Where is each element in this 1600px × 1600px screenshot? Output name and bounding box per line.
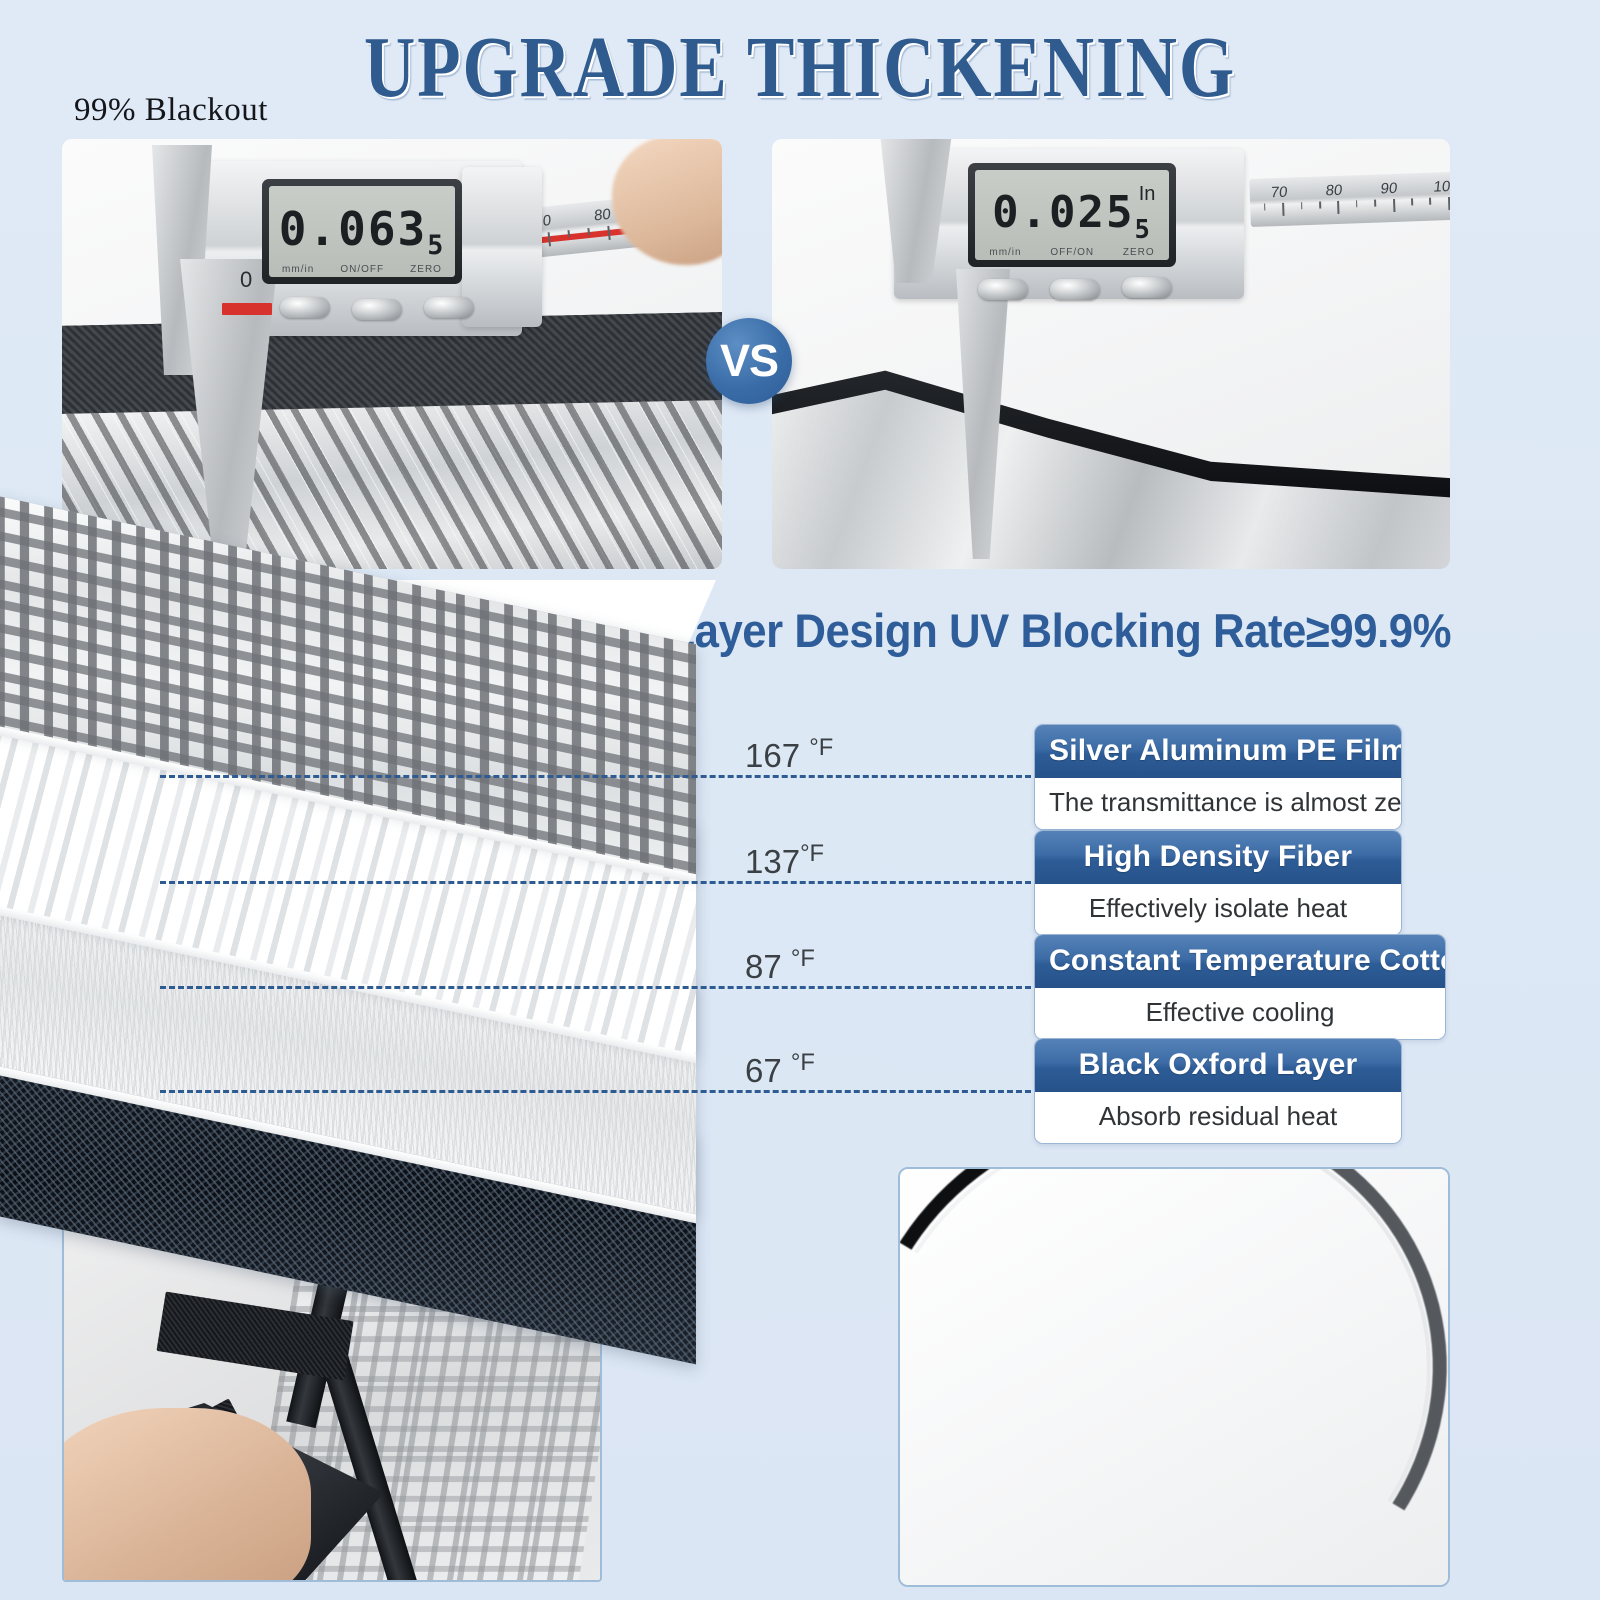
temperature-label-2: 137°F xyxy=(745,840,824,881)
caliper-lcd-panel: 0.0255 In mm/in OFF/ON ZERO xyxy=(975,170,1169,260)
caliper-mode-mm-in: mm/in xyxy=(989,247,1021,258)
layer-card-constant-temperature-cotton: Constant Temperature Cotton Effective co… xyxy=(1034,934,1446,1040)
ruler-tick-70: 70 xyxy=(1270,183,1288,201)
caliper-button-3 xyxy=(1122,277,1172,298)
caliper-reading-value: 0.025 xyxy=(992,187,1134,238)
caliper-reading-decimal: 5 xyxy=(1135,215,1152,245)
flexible-spring-wire-photo xyxy=(898,1167,1450,1587)
layer-card-description: Effectively isolate heat xyxy=(1035,884,1401,935)
vs-badge: VS xyxy=(706,318,792,404)
caliper-button-1 xyxy=(978,279,1028,300)
layer-card-silver-aluminum-pe-film: Silver Aluminum PE Film The transmittanc… xyxy=(1034,724,1402,830)
temperature-label-3: 87 °F xyxy=(745,945,815,986)
ruler-tick-90: 90 xyxy=(1380,180,1398,198)
ruler-tick-80: 80 xyxy=(593,206,610,225)
caliper-button-2 xyxy=(352,299,402,320)
caliper-zero-mark: 0 xyxy=(240,267,252,293)
caliper-mode-zero: ZERO xyxy=(410,264,442,275)
temperature-value: 67 xyxy=(745,1052,782,1089)
temperature-unit: °F xyxy=(791,945,815,972)
caliper-button-2 xyxy=(1050,279,1100,300)
caliper-mode-zero: ZERO xyxy=(1123,247,1155,258)
caliper-reading: 0.0255 xyxy=(987,174,1158,251)
temperature-connector-line xyxy=(160,986,1040,989)
thin-sunshade-caliper-photo: 70 80 90 100 0.0255 In mm/in OFF/ON ZERO xyxy=(772,139,1450,569)
caliper-unit-label: In xyxy=(1139,183,1156,206)
ruler-tick-100: 100 xyxy=(1433,177,1450,195)
temperature-unit: °F xyxy=(791,1049,815,1076)
spring-wire-highlight xyxy=(898,1167,1450,1587)
temperature-value: 137 xyxy=(745,843,800,880)
caliper-reading-value: 0.063 xyxy=(279,202,427,256)
blackout-label: 99% Blackout xyxy=(74,92,268,129)
caliper-ruler-beam: 70 80 90 100 xyxy=(1249,171,1450,227)
caliper-button-3 xyxy=(424,297,474,318)
ruler-tick-80: 80 xyxy=(1325,182,1343,200)
layer-card-black-oxford-layer: Black Oxford Layer Absorb residual heat xyxy=(1034,1038,1402,1144)
layer-card-title: Black Oxford Layer xyxy=(1035,1039,1401,1092)
hand-holding-fabric xyxy=(62,1408,311,1582)
layer-card-title: High Density Fiber xyxy=(1035,831,1401,884)
caliper-lcd-screen: 0.0635 mm/in ON/OFF ZERO xyxy=(262,179,462,284)
caliper-reading-decimal: 5 xyxy=(427,230,445,261)
caliper-head-right xyxy=(462,167,542,327)
thick-sunshade-caliper-photo: 70 80 90 100 0 0.0635 mm/in ON/OFF ZERO xyxy=(62,139,722,569)
caliper-lcd-footer: mm/in OFF/ON ZERO xyxy=(975,247,1169,258)
layer-section-heading: 4-Layer Design UV Blocking Rate≥99.9% xyxy=(630,603,1439,658)
layer-card-description: Effective cooling xyxy=(1035,988,1445,1039)
infographic-page: UPGRADE THICKENING 99% Blackout 70 80 90… xyxy=(0,0,1600,1600)
temperature-label-4: 67 °F xyxy=(745,1049,815,1090)
temperature-label-1: 167 °F xyxy=(745,734,833,775)
caliper-lcd-screen: 0.0255 In mm/in OFF/ON ZERO xyxy=(968,163,1176,267)
caliper-lcd-footer: mm/in ON/OFF ZERO xyxy=(269,264,455,275)
caliper-zero-red-strip xyxy=(222,303,272,315)
fabric-layer-stack xyxy=(56,580,736,1192)
caliper-button-1 xyxy=(280,297,330,318)
layer-card-description: The transmittance is almost zero xyxy=(1035,778,1401,829)
temperature-value: 87 xyxy=(745,948,782,985)
temperature-connector-line xyxy=(160,775,1040,778)
caliper-mode-mm-in: mm/in xyxy=(282,264,314,275)
temperature-unit: °F xyxy=(809,734,833,761)
caliper-mode-offon: OFF/ON xyxy=(1050,247,1094,258)
caliper-reading: 0.0635 xyxy=(280,190,444,268)
layer-card-title: Silver Aluminum PE Film xyxy=(1035,725,1401,778)
temperature-unit: °F xyxy=(800,840,824,867)
layer-card-high-density-fiber: High Density Fiber Effectively isolate h… xyxy=(1034,830,1402,936)
temperature-connector-line xyxy=(160,1090,1040,1093)
caliper-mode-onoff: ON/OFF xyxy=(340,264,384,275)
layer-card-description: Absorb residual heat xyxy=(1035,1092,1401,1143)
temperature-connector-line xyxy=(160,881,1040,884)
temperature-value: 167 xyxy=(745,737,800,774)
layer-card-title: Constant Temperature Cotton xyxy=(1035,935,1445,988)
caliper-lcd-panel: 0.0635 mm/in ON/OFF ZERO xyxy=(269,186,455,277)
